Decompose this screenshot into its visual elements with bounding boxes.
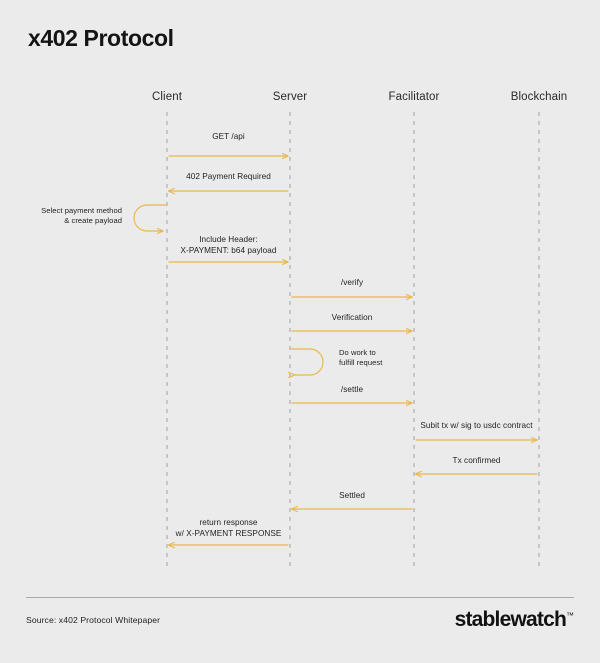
- lifeline-label-client: Client: [152, 91, 182, 103]
- lifeline-label-blockchain: Blockchain: [511, 91, 568, 103]
- message-label-get-api: GET /api: [212, 131, 245, 142]
- message-label-402-payment-required: 402 Payment Required: [186, 171, 271, 182]
- message-label-include-header: Include Header: X-PAYMENT: b64 payload: [181, 234, 277, 257]
- message-label-submit-tx: Subit tx w/ sig to usdc contract: [420, 420, 532, 431]
- trademark-symbol: ™: [566, 611, 574, 620]
- note-label-do-work: Do work to fulfill request: [339, 348, 382, 369]
- message-label-settle: /settle: [341, 384, 363, 395]
- message-arrows-group: [134, 156, 537, 545]
- lifeline-label-facilitator: Facilitator: [389, 91, 440, 103]
- note-label-select-payment-method: Select payment method & create payload: [41, 206, 122, 227]
- self-loop-select-payment-method: [134, 205, 167, 231]
- brand-name: stablewatch: [455, 608, 566, 631]
- footer-divider: [26, 597, 574, 598]
- diagram-page: x402 Protocol ClientServerFacilitatorBlo…: [0, 0, 600, 663]
- message-label-return-response: return response w/ X-PAYMENT RESPONSE: [176, 517, 282, 540]
- lifeline-label-server: Server: [273, 91, 307, 103]
- message-label-verification: Verification: [332, 312, 373, 323]
- source-caption: Source: x402 Protocol Whitepaper: [26, 615, 160, 625]
- message-label-verify: /verify: [341, 277, 363, 288]
- message-label-settled: Settled: [339, 490, 365, 501]
- brand-logo: stablewatch™: [455, 608, 574, 632]
- message-label-tx-confirmed: Tx confirmed: [453, 455, 501, 466]
- self-loop-do-work: [290, 349, 323, 375]
